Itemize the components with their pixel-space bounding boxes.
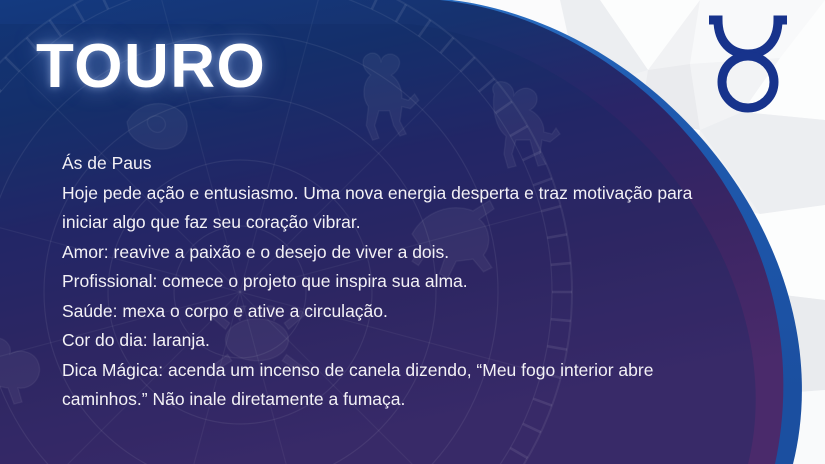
horoscope-reading: Ás de Paus Hoje pede ação e entusiasmo. … <box>62 149 712 415</box>
horoscope-card: TOURO Ás de Paus Hoje pede ação e entusi… <box>0 0 825 464</box>
page-title: TOURO <box>36 36 266 98</box>
reading-body-text: Ás de Paus Hoje pede ação e entusiasmo. … <box>62 149 712 415</box>
taurus-symbol-icon <box>693 8 803 118</box>
